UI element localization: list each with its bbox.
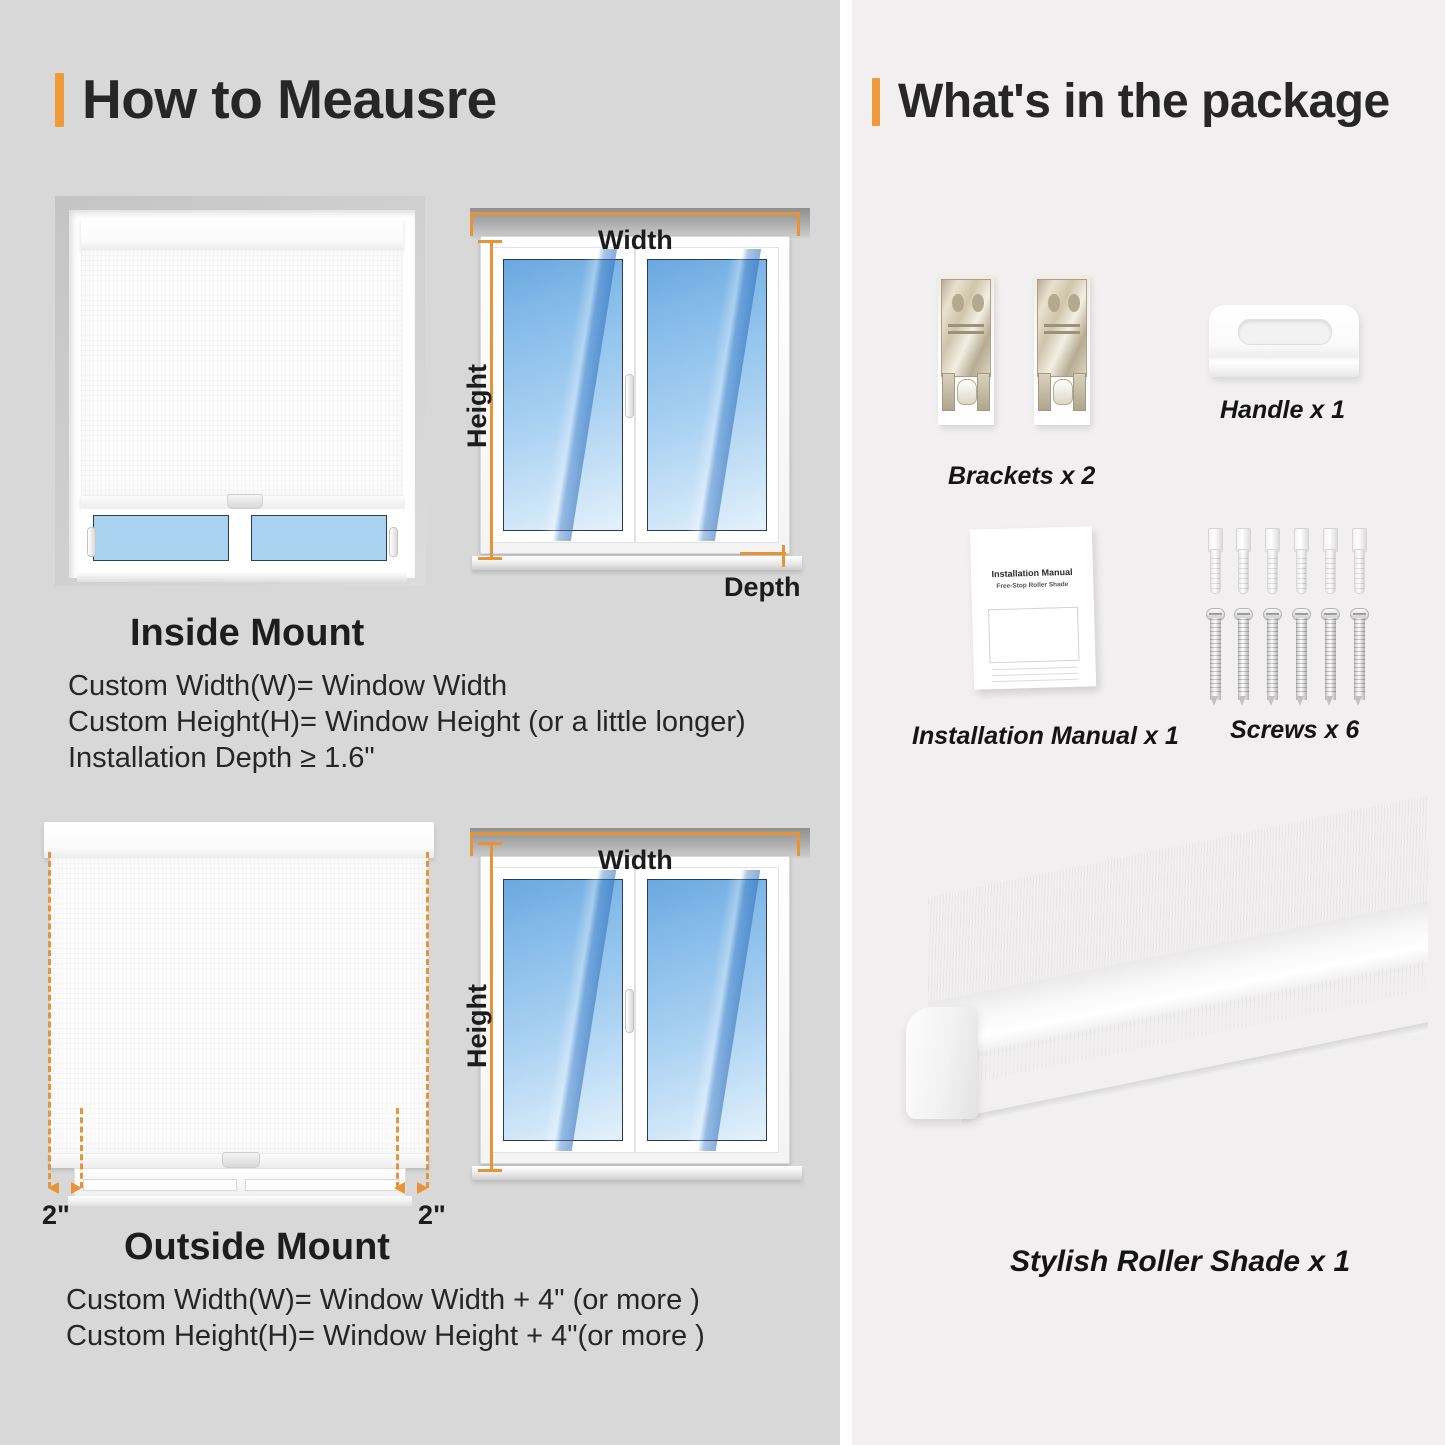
heading-label: How to Meausre	[82, 72, 497, 127]
how-to-measure-heading: How to Meausre	[55, 72, 497, 127]
outside-mount-shade-illustration	[30, 808, 450, 1208]
shade-pull-handle	[227, 494, 263, 509]
screw-shaft	[1267, 618, 1278, 700]
handle-grip-slot	[1238, 319, 1332, 345]
manual-cover-rule	[992, 667, 1078, 670]
overhang-guide-right-outer	[426, 852, 429, 1188]
brackets-part	[930, 275, 1130, 435]
depth-label: Depth	[724, 572, 801, 603]
wall-anchor-icon	[1351, 528, 1366, 592]
window-sill	[472, 1166, 802, 1180]
screw-tip	[1210, 696, 1218, 706]
depth-dimension-line	[740, 552, 786, 555]
installation-manual-icon: Installation Manual Free-Stop Roller Sha…	[970, 526, 1096, 689]
wall-anchor-icon	[1322, 528, 1337, 592]
manual-cover-title: Installation Manual	[971, 566, 1093, 579]
arrow-right-icon	[417, 1182, 428, 1194]
window-sill	[472, 556, 802, 570]
outside-mount-line-2: Custom Height(H)= Window Height + 4"(or …	[66, 1320, 705, 1353]
anchor-body	[1267, 549, 1278, 594]
screw-shaft	[1325, 618, 1336, 700]
panel-divider	[840, 0, 852, 1445]
installation-manual-label: Installation Manual x 1	[912, 722, 1179, 751]
window-leaf-right	[635, 867, 779, 1153]
handle-label: Handle x 1	[1220, 396, 1345, 425]
window-frame	[480, 856, 790, 1164]
screw-icon	[1350, 608, 1367, 700]
window-sash	[491, 247, 779, 543]
overhang-label-left: 2"	[42, 1200, 70, 1231]
width-label: Width	[598, 845, 673, 876]
bracket-tab-left	[942, 373, 955, 411]
shade-fabric	[81, 250, 403, 496]
width-dimension-cap-right	[797, 832, 800, 856]
anchor-body	[1325, 549, 1336, 594]
wall-anchor-icon	[1235, 528, 1250, 592]
width-dimension-cap-left	[470, 212, 473, 236]
inside-mount-title: Inside Mount	[130, 612, 364, 655]
window-sill	[77, 572, 407, 582]
inside-mount-line-3: Installation Depth ≥ 1.6"	[68, 742, 375, 775]
shade-pull-handle	[222, 1152, 260, 1168]
shade-headrail	[81, 218, 403, 250]
screw-icon	[1234, 608, 1251, 700]
height-label: Height	[462, 364, 493, 448]
window-handle-left-icon	[87, 527, 96, 557]
glass-pane-right	[251, 515, 387, 561]
heading-label: What's in the package	[898, 78, 1390, 126]
screw-tip	[1325, 696, 1333, 706]
shade-roll-end-cap	[906, 1007, 978, 1119]
bracket-metal-body	[941, 279, 991, 377]
bracket-tab-right	[977, 373, 990, 411]
arrow-left-icon	[394, 1182, 405, 1194]
anchor-body	[1210, 549, 1221, 594]
height-dimension-cap-bottom	[478, 1169, 502, 1172]
screw-shaft	[1238, 618, 1249, 700]
screw-icon	[1263, 608, 1280, 700]
window-sash	[491, 867, 779, 1153]
height-dimension-cap-top	[478, 842, 502, 845]
bracket-tab-right	[1073, 373, 1086, 411]
height-dimension-cap-bottom	[478, 557, 502, 560]
bracket-keyhole	[1053, 379, 1073, 405]
overhang-guide-left-inner	[80, 1108, 83, 1188]
depth-dimension-cap	[782, 545, 785, 567]
screws-label: Screws x 6	[1230, 716, 1359, 745]
glass-pane	[503, 259, 623, 531]
manual-cover-rule	[992, 673, 1078, 676]
screw-tip	[1296, 696, 1304, 706]
outside-mount-line-1: Custom Width(W)= Window Width + 4" (or m…	[66, 1284, 700, 1317]
window-handle-right-icon	[389, 527, 398, 557]
overhang-guide-left-outer	[48, 852, 51, 1188]
anchor-body	[1354, 549, 1365, 594]
outside-mount-title: Outside Mount	[124, 1226, 390, 1269]
inside-mount-line-2: Custom Height(H)= Window Height (or a li…	[68, 706, 746, 739]
glass-pane	[647, 259, 767, 531]
screws-part	[1207, 528, 1387, 698]
arrow-left-icon	[48, 1182, 59, 1194]
anchor-body	[1238, 549, 1249, 594]
window-leaf-left	[491, 247, 635, 543]
manual-cover-figure	[988, 607, 1079, 663]
window-sill	[68, 1196, 412, 1206]
screw-tip	[1354, 696, 1362, 706]
width-label: Width	[598, 225, 673, 256]
screw-shaft	[1210, 618, 1221, 700]
width-dimension-line	[470, 212, 800, 215]
wall-anchor-icon	[1293, 528, 1308, 592]
window-leaf-right	[635, 247, 779, 543]
sash-handle-icon	[625, 989, 634, 1033]
sash-handle-icon	[625, 374, 634, 418]
manual-cover-rule	[992, 679, 1078, 682]
width-dimension-cap-left	[470, 832, 473, 856]
shade-headrail	[44, 822, 434, 858]
infographic-page: How to Meausre	[0, 0, 1445, 1445]
screw-icon	[1206, 608, 1223, 700]
bracket-keyhole	[957, 379, 977, 405]
bracket-icon	[938, 275, 994, 425]
height-label: Height	[462, 984, 493, 1068]
wall-anchor-icon	[1207, 528, 1222, 592]
accent-bar-icon	[872, 78, 880, 126]
overhang-arrows-right	[394, 1182, 428, 1194]
roller-shade-label: Stylish Roller Shade x 1	[1010, 1245, 1350, 1279]
overhang-label-right: 2"	[418, 1200, 446, 1231]
wall-anchor-icon	[1264, 528, 1279, 592]
anchor-body	[1296, 549, 1307, 594]
screw-tip	[1238, 696, 1246, 706]
height-dimension-cap-top	[478, 240, 502, 243]
width-dimension-cap-right	[797, 212, 800, 236]
screw-icon	[1321, 608, 1338, 700]
window-sash-lower	[74, 1168, 406, 1198]
glass-pane	[503, 879, 623, 1141]
handle-icon	[1209, 305, 1359, 377]
manual-cover-subtitle: Free-Stop Roller Shade	[971, 580, 1093, 590]
window-leaf-left	[491, 867, 635, 1153]
arrow-right-icon	[71, 1182, 82, 1194]
width-dimension-line	[470, 832, 800, 835]
bracket-metal-body	[1037, 279, 1087, 377]
screw-shaft	[1354, 618, 1365, 700]
overhang-guide-right-inner	[396, 1108, 399, 1188]
roller-shade-product-image	[900, 885, 1430, 1215]
window-sash-lower	[81, 509, 403, 577]
accent-bar-icon	[55, 73, 64, 127]
glass-pane-right	[245, 1179, 399, 1191]
bracket-icon	[1034, 275, 1090, 425]
glass-pane-left	[83, 1179, 237, 1191]
bracket-tab-left	[1038, 373, 1051, 411]
shade-fabric	[50, 858, 428, 1154]
overhang-arrows-left	[48, 1182, 82, 1194]
glass-pane-left	[93, 515, 229, 561]
inside-mount-line-1: Custom Width(W)= Window Width	[68, 670, 507, 703]
window-frame	[480, 236, 790, 554]
whats-in-the-package-heading: What's in the package	[872, 78, 1390, 126]
inside-mount-window-diagram: Width Height Depth	[452, 200, 820, 600]
screw-shaft	[1296, 618, 1307, 700]
inside-mount-shade-illustration	[55, 196, 425, 586]
outside-mount-window-diagram: Width Height	[452, 820, 820, 1210]
glass-pane	[647, 879, 767, 1141]
screw-icon	[1292, 608, 1309, 700]
brackets-label: Brackets x 2	[948, 462, 1095, 491]
screw-tip	[1267, 696, 1275, 706]
